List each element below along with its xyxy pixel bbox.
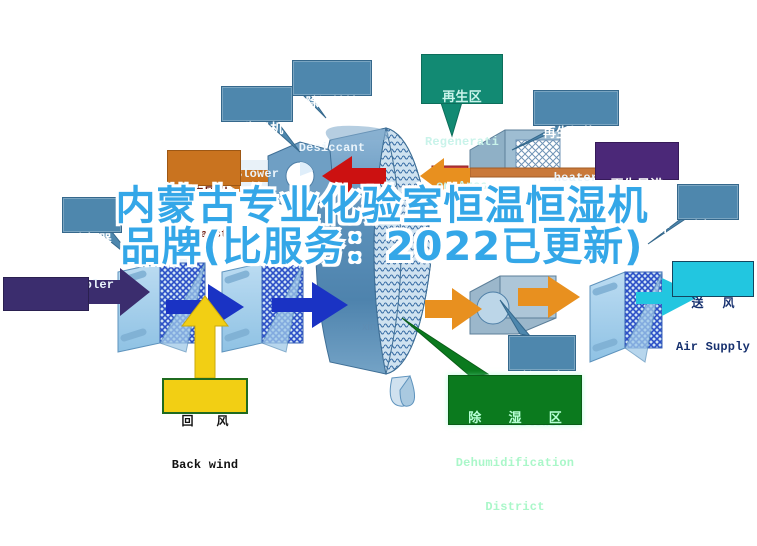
- label-regen-heater-cn: 再生加热器: [534, 126, 618, 139]
- label-air-supply-cn: 送 风: [673, 297, 753, 309]
- label-regen-air-in-en: Fresh Air: [596, 224, 678, 236]
- label-back-wind-cn: 回 风: [164, 415, 246, 427]
- label-desiccant-wheel-en: Desiccant: [293, 142, 371, 154]
- label-dehumidification-district-en-2: District: [449, 501, 581, 513]
- label-regeneration-area[interactable]: 再生区 Regenerati on Area: [421, 54, 503, 104]
- label-regen-air-out-en: Exhaust: [168, 230, 240, 241]
- label-regen-blower-cn: 再生风机: [222, 122, 292, 135]
- label-air-supply-en: Air Supply: [673, 341, 753, 353]
- label-regen-air-out-cn: 再生风出: [168, 186, 240, 198]
- svg-text:xin: xin: [362, 321, 376, 333]
- label-cooler-right-cn: 冷却器: [678, 220, 738, 233]
- label-cooler-right[interactable]: 冷却器 Cooler: [677, 184, 739, 220]
- label-desiccant-wheel[interactable]: 除湿转轮 Desiccant: [292, 60, 372, 96]
- label-regen-air-in-cn: 再生风进: [596, 178, 678, 191]
- label-dehumidification-district[interactable]: 除 湿 区 Dehumidification District: [448, 375, 582, 425]
- label-back-wind-en: Back wind: [164, 459, 246, 471]
- label-fresh-air-in-en: Fresh Air: [4, 357, 88, 369]
- label-dehum-blower[interactable]: 除湿风机 Blower: [508, 335, 576, 371]
- label-dehumidification-district-en-1: Dehumidification: [449, 457, 581, 469]
- label-cooler-left[interactable]: 冷却器 Cooler: [62, 197, 122, 233]
- label-cooler-left-cn: 冷却器: [63, 233, 121, 246]
- label-regeneration-area-en-2: on Area: [422, 180, 502, 192]
- label-regeneration-area-en-1: Regenerati: [422, 136, 502, 148]
- label-regen-air-in[interactable]: 再生风进 Fresh Air: [595, 142, 679, 180]
- label-regen-air-out[interactable]: 再生风出 Exhaust: [167, 150, 241, 186]
- label-back-wind[interactable]: 回 风 Back wind: [162, 378, 248, 414]
- label-regeneration-area-cn: 再生区: [422, 90, 502, 103]
- label-air-supply[interactable]: 送 风 Air Supply: [672, 261, 754, 297]
- label-fresh-air-in[interactable]: 新 风 Fresh Air: [3, 277, 89, 311]
- label-fresh-air-in-cn: 新 风: [4, 313, 88, 325]
- label-regen-heater[interactable]: 再生加热器 heater: [533, 90, 619, 126]
- cooling-coil-3: [590, 272, 662, 362]
- label-desiccant-wheel-cn: 除湿转轮: [293, 96, 371, 109]
- diagram-canvas: xin: [0, 0, 757, 488]
- label-regen-blower[interactable]: 再生风机 Blower: [221, 86, 293, 122]
- label-dehumidification-district-cn: 除 湿 区: [449, 411, 581, 424]
